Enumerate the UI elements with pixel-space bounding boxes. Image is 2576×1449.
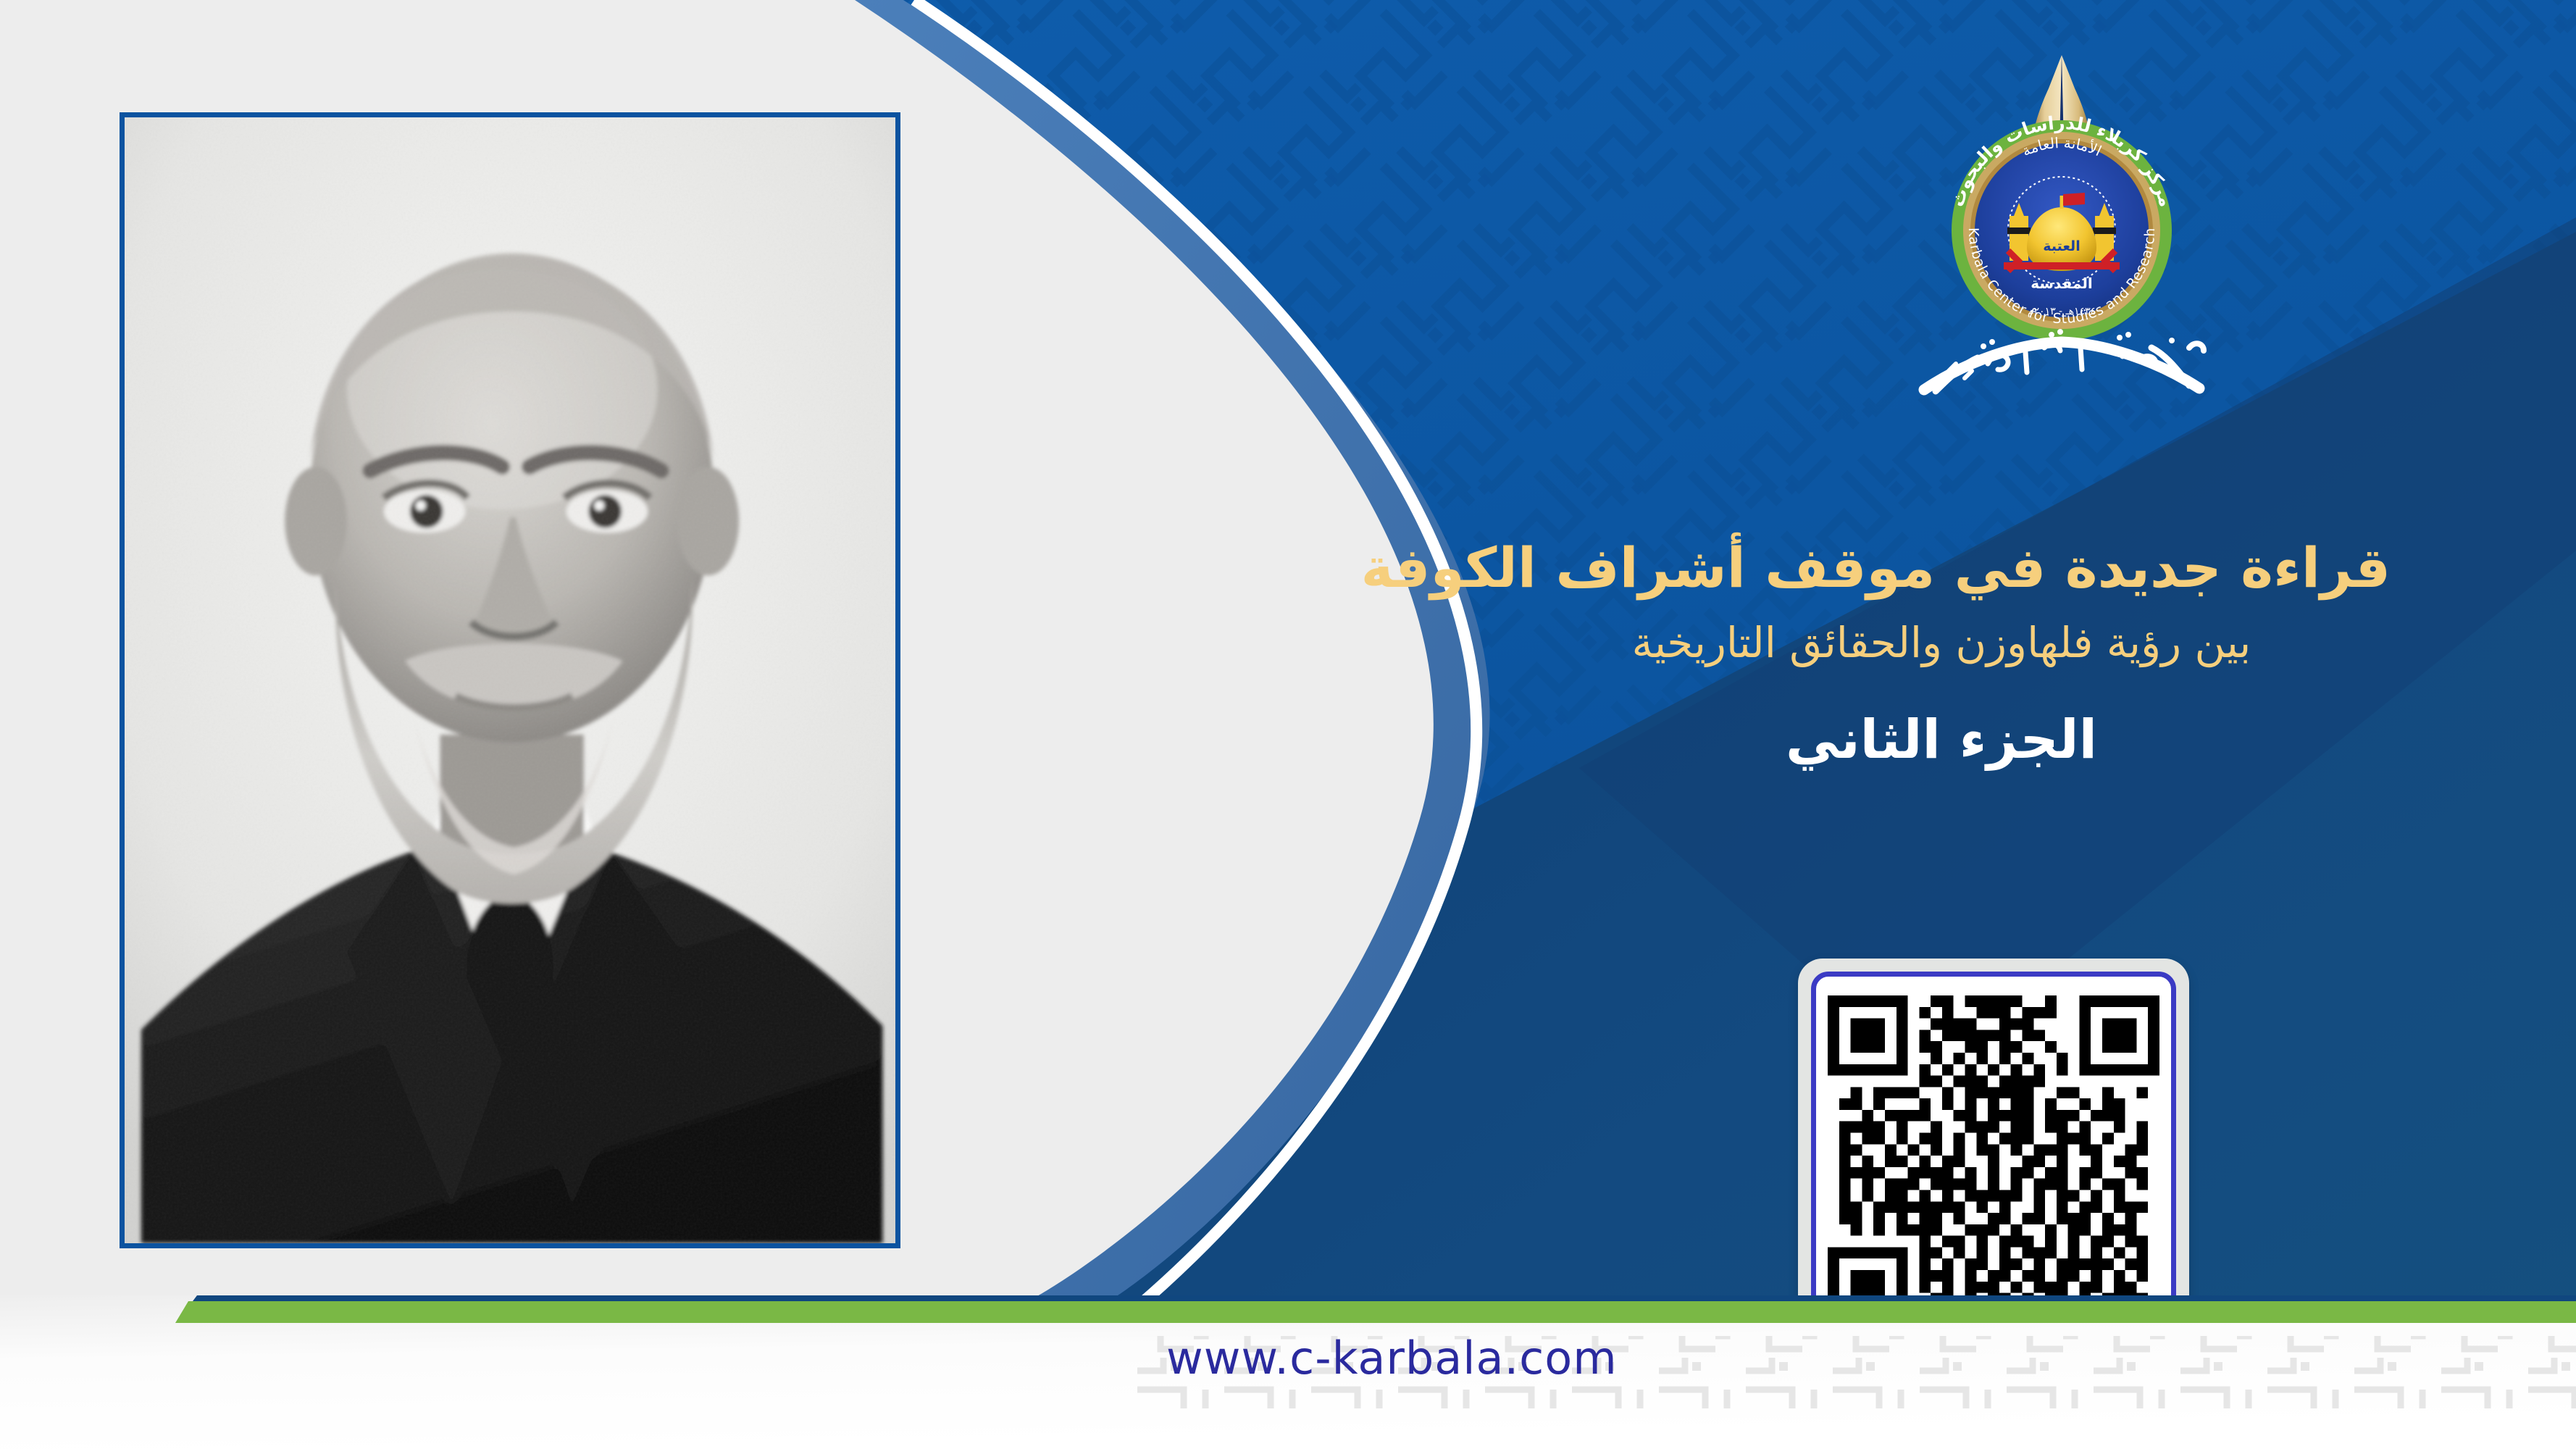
portrait-frame (120, 112, 900, 1248)
karbala-center-logo: مركز كربلاء للدراسات والبحوث الأمانة الع… (1902, 51, 2221, 413)
headline-block: قراءة جديدة في موقف أشراف الكوفة بين رؤي… (1492, 536, 2391, 771)
qr-code-inner[interactable] (1811, 972, 2176, 1351)
page-title: قراءة جديدة في موقف أشراف الكوفة (1492, 536, 2391, 599)
qr-code-icon (1828, 988, 2159, 1335)
part-label: الجزء الثاني (1492, 709, 2391, 771)
logo-calligraphy (1924, 342, 2204, 391)
logo-shrine-label: المقدسة (2031, 275, 2093, 292)
logo-date-line: ١٤٣٤هـ - ٢٠١٣م (2028, 306, 2096, 317)
website-url[interactable]: www.c-karbala.com (1166, 1332, 1618, 1385)
julius-wellhausen-portrait (125, 117, 895, 1243)
page-subtitle: بين رؤية فلهاوزن والحقائق التاريخية (1492, 618, 2391, 669)
svg-text:العتبة: العتبة (2043, 238, 2080, 254)
poster-canvas: مركز كربلاء للدراسات والبحوث الأمانة الع… (0, 0, 2576, 1449)
